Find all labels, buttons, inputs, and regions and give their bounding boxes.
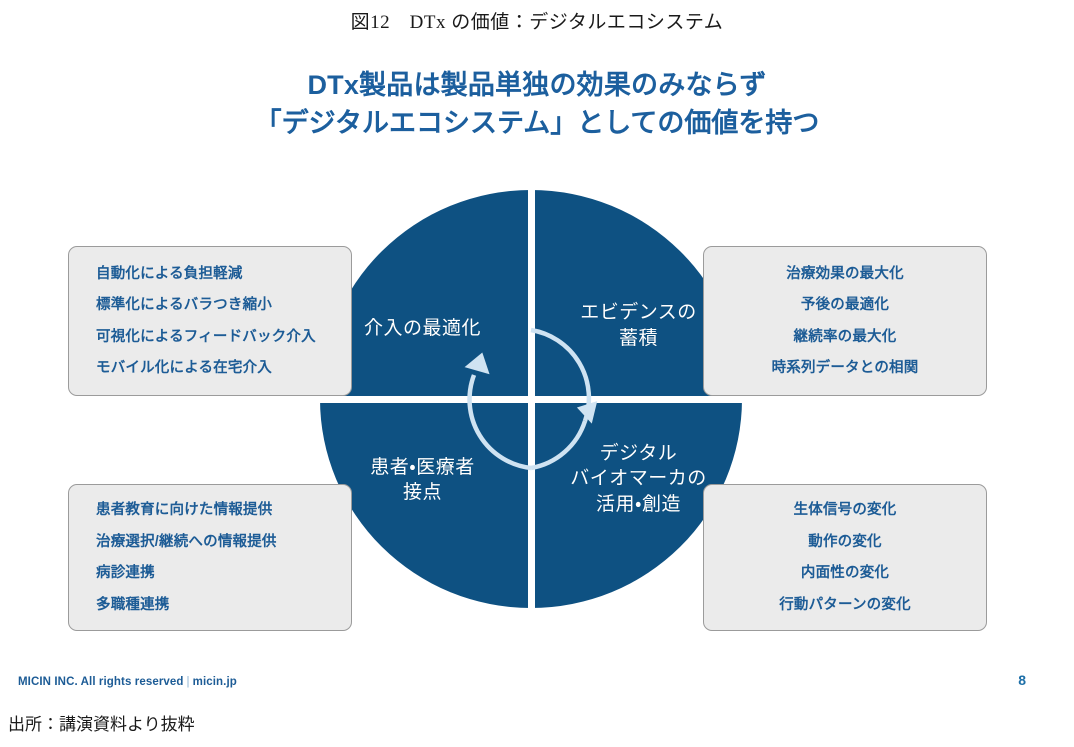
note-box-top-left[interactable]: 自動化による負担軽減 標準化によるバラつき縮小 可視化によるフィードバック介入 …	[68, 246, 352, 396]
headline-line-2: 「デジタルエコシステム」としての価値を持つ	[0, 104, 1074, 142]
note-item: 患者教育に向けた情報提供	[69, 495, 351, 527]
figure-caption: 図12 DTx の価値：デジタルエコシステム	[0, 7, 1074, 34]
note-item: モバイル化による在宅介入	[69, 353, 351, 385]
note-item: 自動化による負担軽減	[69, 258, 351, 290]
note-item: 継続率の最大化	[704, 321, 986, 353]
website-link[interactable]: micin.jp	[193, 676, 237, 688]
note-item: 標準化によるバラつき縮小	[69, 290, 351, 322]
note-item: 内面性の変化	[704, 558, 986, 590]
footer-separator: |	[184, 676, 193, 688]
note-item: 治療効果の最大化	[704, 258, 986, 290]
headline-line-1: DTx製品は製品単独の効果のみならず	[0, 66, 1074, 104]
quadrant-label: 介入の最適化	[364, 316, 487, 399]
slide-headline: DTx製品は製品単独の効果のみならず 「デジタルエコシステム」としての価値を持つ	[0, 66, 1074, 143]
note-item: 予後の最適化	[704, 290, 986, 322]
note-item: 動作の変化	[704, 526, 986, 558]
note-item: 多職種連携	[69, 589, 351, 621]
copyright-text: MICIN INC. All rights reserved	[18, 676, 184, 688]
note-box-bottom-left[interactable]: 患者教育に向けた情報提供 治療選択/継続への情報提供 病診連携 多職種連携	[68, 484, 352, 631]
quadrant-label: 患者・医療者 接点	[370, 399, 480, 506]
quadrant-label: デジタル バイオマーカの 活用・創造	[566, 399, 707, 517]
note-item: 時系列データとの相関	[704, 353, 986, 385]
page-number: 8	[1018, 672, 1026, 688]
note-box-top-right[interactable]: 治療効果の最大化 予後の最適化 継続率の最大化 時系列データとの相関	[703, 246, 987, 396]
quadrant-label: エビデンスの 蓄積	[576, 300, 697, 399]
ecosystem-circle-diagram: 介入の最適化 エビデンスの 蓄積 患者・医療者 接点 デジタル バイオマーカの …	[320, 190, 742, 608]
source-note: 出所：講演資料より抜粋	[8, 710, 195, 735]
note-box-bottom-right[interactable]: 生体信号の変化 動作の変化 内面性の変化 行動パターンの変化	[703, 484, 987, 631]
horizontal-divider	[318, 396, 744, 403]
note-item: 病診連携	[69, 558, 351, 590]
note-item: 生体信号の変化	[704, 495, 986, 527]
slide-canvas: DTx製品は製品単独の効果のみならず 「デジタルエコシステム」としての価値を持つ…	[0, 44, 1074, 699]
note-item: 治療選択/継続への情報提供	[69, 526, 351, 558]
slide-footer: MICIN INC. All rights reserved|micin.jp	[18, 676, 237, 688]
note-item: 行動パターンの変化	[704, 589, 986, 621]
note-item: 可視化によるフィードバック介入	[69, 321, 351, 353]
